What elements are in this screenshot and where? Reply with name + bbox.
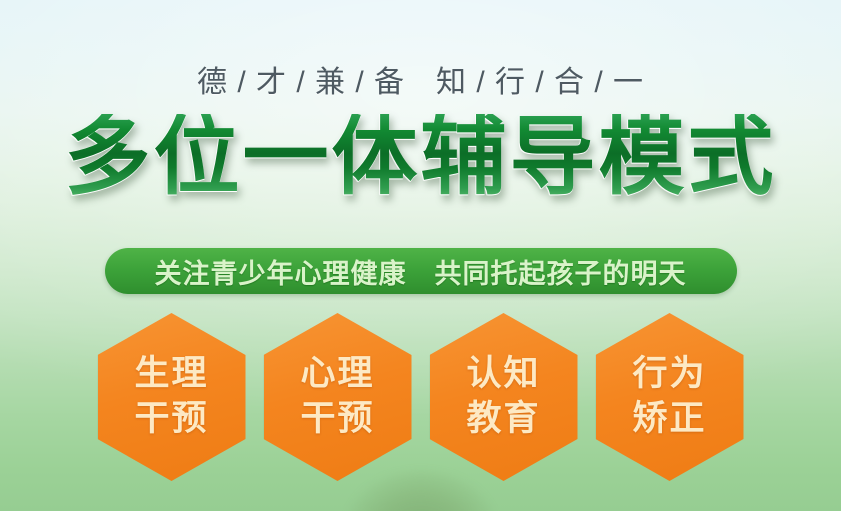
subtitle-banner: 关注青少年心理健康 共同托起孩子的明天 xyxy=(105,248,737,294)
page-title: 多位一体辅导模式 xyxy=(0,114,841,200)
badge-label-line1: 认知 xyxy=(466,352,540,397)
poster-canvas: 德 / 才 / 兼 / 备 知 / 行 / 合 / 一 多位一体辅导模式 关注青… xyxy=(0,0,841,511)
badge-row: 生理 干预 心理 干预 认知 教育 行为 矫正 xyxy=(0,313,841,481)
badge-label-line1: 心理 xyxy=(300,352,374,397)
badge-label-line1: 生理 xyxy=(134,352,208,397)
badge-label-line2: 干预 xyxy=(134,397,208,442)
badge-psychological-intervention[interactable]: 心理 干预 xyxy=(264,313,412,481)
badge-cognitive-education[interactable]: 认知 教育 xyxy=(430,313,578,481)
subtitle-banner-text: 关注青少年心理健康 共同托起孩子的明天 xyxy=(155,252,687,291)
badge-label-line2: 干预 xyxy=(300,397,374,442)
badge-physiological-intervention[interactable]: 生理 干预 xyxy=(98,313,246,481)
badge-label-line1: 行为 xyxy=(632,352,706,397)
eyebrow-tagline: 德 / 才 / 兼 / 备 知 / 行 / 合 / 一 xyxy=(0,57,841,101)
badge-label-line2: 矫正 xyxy=(632,397,706,442)
badge-behavioral-correction[interactable]: 行为 矫正 xyxy=(596,313,744,481)
badge-label-line2: 教育 xyxy=(466,397,540,442)
